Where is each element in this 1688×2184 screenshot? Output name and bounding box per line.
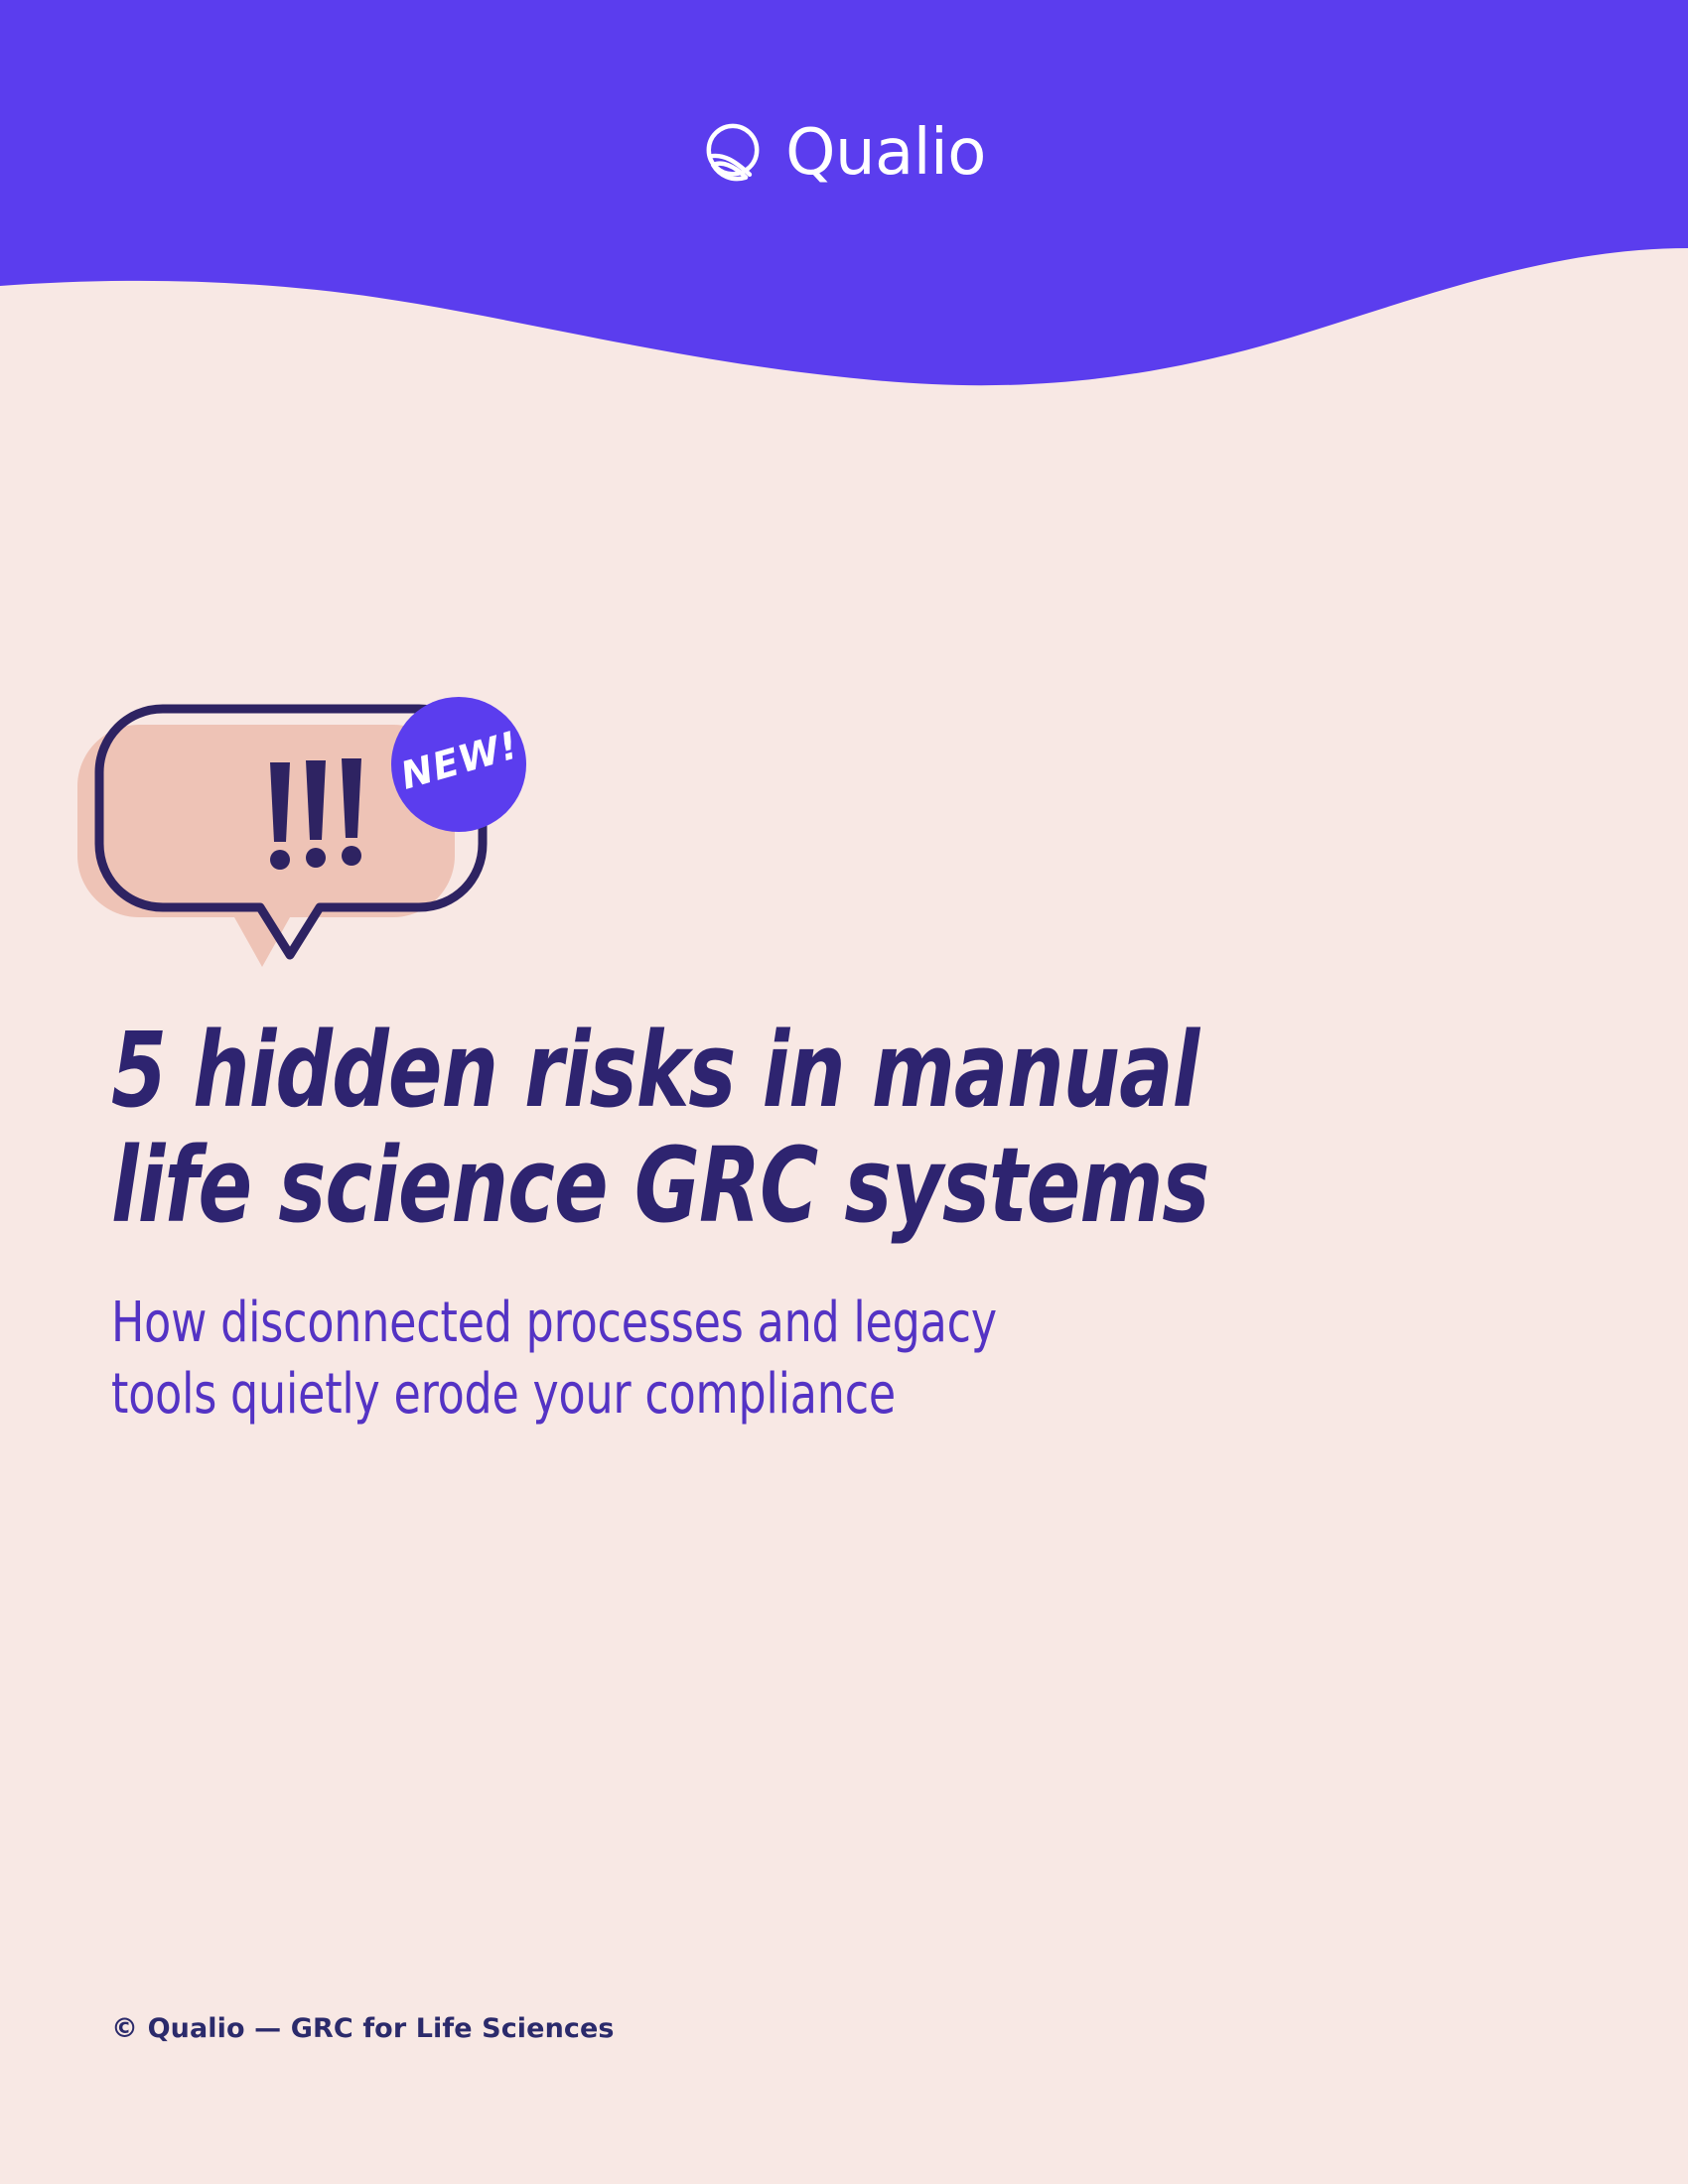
qualio-wordmark: Qualio [785, 121, 986, 185]
wave-divider-shape [0, 0, 1688, 385]
page-subtitle: How disconnected processes and legacy to… [111, 1288, 1265, 1430]
brand-lockup: Qualio [0, 121, 1688, 185]
qualio-circle-swoosh-icon [702, 122, 764, 184]
page-title: 5 hidden risks in manual life science GR… [111, 1013, 1238, 1244]
cover-copy-block: 5 hidden risks in manual life science GR… [111, 1013, 1422, 1430]
header-band [0, 0, 1688, 417]
exclamation-marks [270, 758, 361, 870]
footer-copyright: © Qualio — GRC for Life Sciences [111, 2013, 615, 2044]
report-cover-page: Qualio NEW! [0, 0, 1688, 2184]
speech-bubble-illustration: NEW! [95, 695, 612, 1003]
